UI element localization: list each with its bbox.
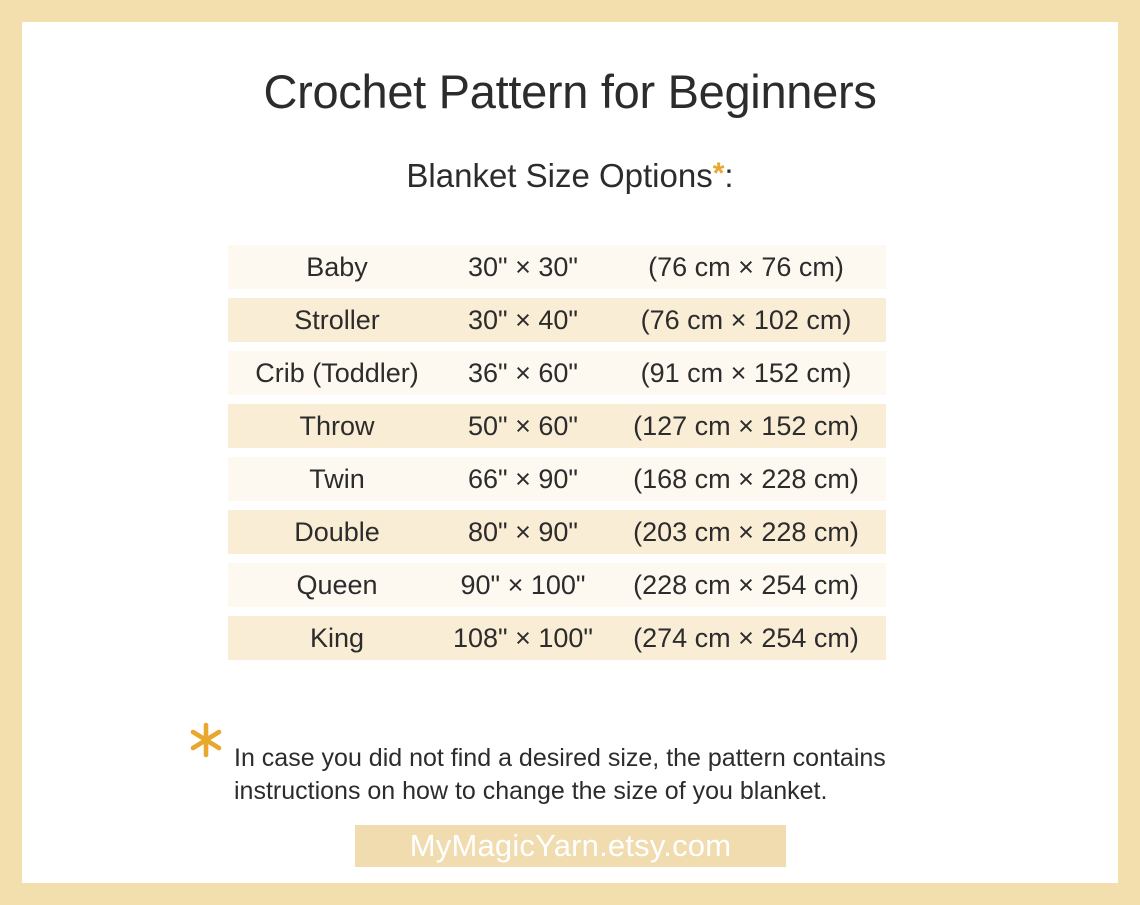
- cell-size-metric: (76 cm × 102 cm): [606, 305, 886, 336]
- table-row: Stroller 30" × 40" (76 cm × 102 cm): [228, 298, 886, 342]
- table-row: Queen 90" × 100" (228 cm × 254 cm): [228, 563, 886, 607]
- section-subtitle: Blanket Size Options*:: [22, 157, 1118, 195]
- shop-url-label: MyMagicYarn.etsy.com: [410, 828, 732, 864]
- cell-size-metric: (127 cm × 152 cm): [606, 411, 886, 442]
- blanket-size-table: Baby 30" × 30" (76 cm × 76 cm) Stroller …: [228, 245, 886, 669]
- cell-size-name: Queen: [228, 570, 440, 601]
- page-title: Crochet Pattern for Beginners: [22, 64, 1118, 119]
- cell-size-metric: (91 cm × 152 cm): [606, 358, 886, 389]
- cell-size-imperial: 30" × 40": [440, 305, 606, 336]
- page-frame: Crochet Pattern for Beginners Blanket Si…: [22, 22, 1118, 883]
- cell-size-imperial: 80" × 90": [440, 517, 606, 548]
- table-row: Throw 50" × 60" (127 cm × 152 cm): [228, 404, 886, 448]
- table-row: King 108" × 100" (274 cm × 254 cm): [228, 616, 886, 660]
- cell-size-imperial: 66" × 90": [440, 464, 606, 495]
- cell-size-name: Stroller: [228, 305, 440, 336]
- footer-shop-banner[interactable]: MyMagicYarn.etsy.com: [355, 825, 786, 867]
- cell-size-imperial: 30" × 30": [440, 252, 606, 283]
- cell-size-metric: (228 cm × 254 cm): [606, 570, 886, 601]
- cell-size-metric: (274 cm × 254 cm): [606, 623, 886, 654]
- cell-size-name: King: [228, 623, 440, 654]
- cell-size-name: Double: [228, 517, 440, 548]
- cell-size-imperial: 90" × 100": [440, 570, 606, 601]
- asterisk-superscript-icon: *: [713, 157, 725, 190]
- cell-size-name: Crib (Toddler): [228, 358, 440, 389]
- cell-size-metric: (203 cm × 228 cm): [606, 517, 886, 548]
- cell-size-name: Twin: [228, 464, 440, 495]
- asterisk-icon: [186, 720, 226, 760]
- cell-size-imperial: 36" × 60": [440, 358, 606, 389]
- subtitle-label: Blanket Size Options: [406, 157, 712, 194]
- cell-size-imperial: 108" × 100": [440, 623, 606, 654]
- table-row: Twin 66" × 90" (168 cm × 228 cm): [228, 457, 886, 501]
- subtitle-colon: :: [724, 157, 733, 194]
- cell-size-metric: (76 cm × 76 cm): [606, 252, 886, 283]
- table-row: Double 80" × 90" (203 cm × 228 cm): [228, 510, 886, 554]
- table-row: Crib (Toddler) 36" × 60" (91 cm × 152 cm…: [228, 351, 886, 395]
- cell-size-imperial: 50" × 60": [440, 411, 606, 442]
- table-row: Baby 30" × 30" (76 cm × 76 cm): [228, 245, 886, 289]
- cell-size-metric: (168 cm × 228 cm): [606, 464, 886, 495]
- footnote-text: In case you did not find a desired size,…: [234, 742, 974, 808]
- cell-size-name: Throw: [228, 411, 440, 442]
- cell-size-name: Baby: [228, 252, 440, 283]
